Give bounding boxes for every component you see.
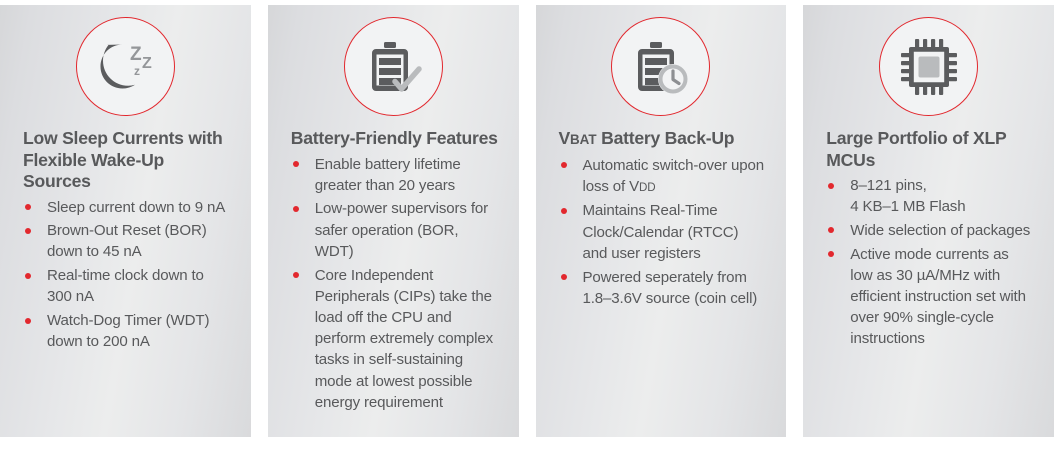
list-item-text: Automatic switch-over upon loss of V xyxy=(583,157,765,195)
bullet-dot-icon xyxy=(561,162,567,168)
bullet-dot-icon xyxy=(828,227,834,233)
card-icon-container xyxy=(803,5,1054,116)
feature-bullet-list: Automatic switch-over upon loss of VDD M… xyxy=(559,155,767,309)
list-item-text: Brown-Out Reset (BOR) down to 45 nA xyxy=(47,222,207,260)
list-item: Powered seperately from 1.8–3.6V source … xyxy=(559,267,767,309)
battery-check-icon xyxy=(362,37,424,97)
list-item-text: Sleep current down to 9 nA xyxy=(47,199,225,216)
battery-clock-icon xyxy=(630,37,692,97)
feature-bullet-list: Enable battery lifetime greater than 20 … xyxy=(291,154,499,413)
list-item: Automatic switch-over upon loss of VDD xyxy=(559,155,767,198)
list-item: Brown-Out Reset (BOR) down to 45 nA xyxy=(23,220,231,262)
bullet-dot-icon xyxy=(25,228,31,234)
bullet-dot-icon xyxy=(25,273,31,279)
list-item-text: Enable battery lifetime greater than 20 … xyxy=(315,156,461,194)
list-item: Core Independent Peripherals (CIPs) take… xyxy=(291,265,499,413)
microchip-icon xyxy=(899,37,959,97)
moon-zzz-icon: Z Z z xyxy=(94,38,156,96)
list-item-text: Core Independent Peripherals (CIPs) take… xyxy=(315,267,493,411)
list-item-text: Active mode currents as low as 30 µA/MHz… xyxy=(850,246,1026,348)
feature-card-xlp-portfolio: Large Portfolio of XLP MCUs 8–121 pins, … xyxy=(803,5,1054,437)
list-item: Watch-Dog Timer (WDT) down to 200 nA xyxy=(23,310,231,352)
card-title: VBAT Battery Back-Up xyxy=(559,128,767,151)
bullet-dot-icon xyxy=(828,251,834,257)
list-item: Active mode currents as low as 30 µA/MHz… xyxy=(826,244,1034,350)
list-item-text: Watch-Dog Timer (WDT) down to 200 nA xyxy=(47,312,209,350)
card-body: Battery-Friendly Features Enable battery… xyxy=(268,116,519,413)
feature-card-battery-friendly: Battery-Friendly Features Enable battery… xyxy=(268,5,519,437)
card-icon-container xyxy=(268,5,519,116)
bullet-dot-icon xyxy=(561,208,567,214)
list-item-text: 8–121 pins, 4 KB–1 MB Flash xyxy=(850,177,965,215)
list-item-text: Wide selection of packages xyxy=(850,222,1030,239)
card-icon-container xyxy=(536,5,787,116)
list-item: Wide selection of packages xyxy=(826,220,1034,241)
title-prefix: V xyxy=(559,128,571,148)
list-item: Maintains Real-Time Clock/Calendar (RTCC… xyxy=(559,200,767,264)
list-item-subscript: DD xyxy=(639,181,655,194)
list-item-text: Low-power supervisors for safer operatio… xyxy=(315,200,488,259)
card-title: Battery-Friendly Features xyxy=(291,128,499,150)
svg-text:z: z xyxy=(134,64,140,78)
list-item-text: Powered seperately from 1.8–3.6V source … xyxy=(583,269,758,307)
feature-card-low-sleep-currents: Z Z z Low Sleep Currents with Flexible W… xyxy=(0,5,251,437)
icon-medallion xyxy=(344,17,443,116)
card-body: Large Portfolio of XLP MCUs 8–121 pins, … xyxy=(803,116,1054,350)
bullet-dot-icon xyxy=(828,183,834,189)
list-item-text: Real-time clock down to 300 nA xyxy=(47,267,204,305)
bullet-dot-icon xyxy=(293,161,299,167)
feature-bullet-list: Sleep current down to 9 nA Brown-Out Res… xyxy=(23,197,231,353)
bullet-dot-icon xyxy=(25,204,31,210)
bullet-dot-icon xyxy=(293,206,299,212)
feature-bullet-list: 8–121 pins, 4 KB–1 MB Flash Wide selecti… xyxy=(826,175,1034,350)
bullet-dot-icon xyxy=(25,318,31,324)
list-item: 8–121 pins, 4 KB–1 MB Flash xyxy=(826,175,1034,217)
list-item: Enable battery lifetime greater than 20 … xyxy=(291,154,499,196)
card-title: Large Portfolio of XLP MCUs xyxy=(826,128,1034,171)
card-body: Low Sleep Currents with Flexible Wake-Up… xyxy=(0,116,251,352)
icon-medallion: Z Z z xyxy=(76,17,175,116)
list-item: Real-time clock down to 300 nA xyxy=(23,265,231,307)
card-title: Low Sleep Currents with Flexible Wake-Up… xyxy=(23,128,231,193)
card-body: VBAT Battery Back-Up Automatic switch-ov… xyxy=(536,116,787,309)
svg-text:Z: Z xyxy=(142,55,152,72)
title-subscript: BAT xyxy=(570,132,597,147)
list-item: Low-power supervisors for safer operatio… xyxy=(291,198,499,262)
list-item-text: Maintains Real-Time Clock/Calendar (RTCC… xyxy=(583,202,739,261)
icon-medallion xyxy=(611,17,710,116)
icon-medallion xyxy=(879,17,978,116)
card-icon-container: Z Z z xyxy=(0,5,251,116)
svg-text:Z: Z xyxy=(130,44,142,65)
bullet-dot-icon xyxy=(293,272,299,278)
list-item: Sleep current down to 9 nA xyxy=(23,197,231,218)
title-rest: Battery Back-Up xyxy=(597,128,735,148)
feature-card-board: Z Z z Low Sleep Currents with Flexible W… xyxy=(0,0,1054,457)
feature-card-vbat-backup: VBAT Battery Back-Up Automatic switch-ov… xyxy=(536,5,787,437)
bullet-dot-icon xyxy=(561,274,567,280)
